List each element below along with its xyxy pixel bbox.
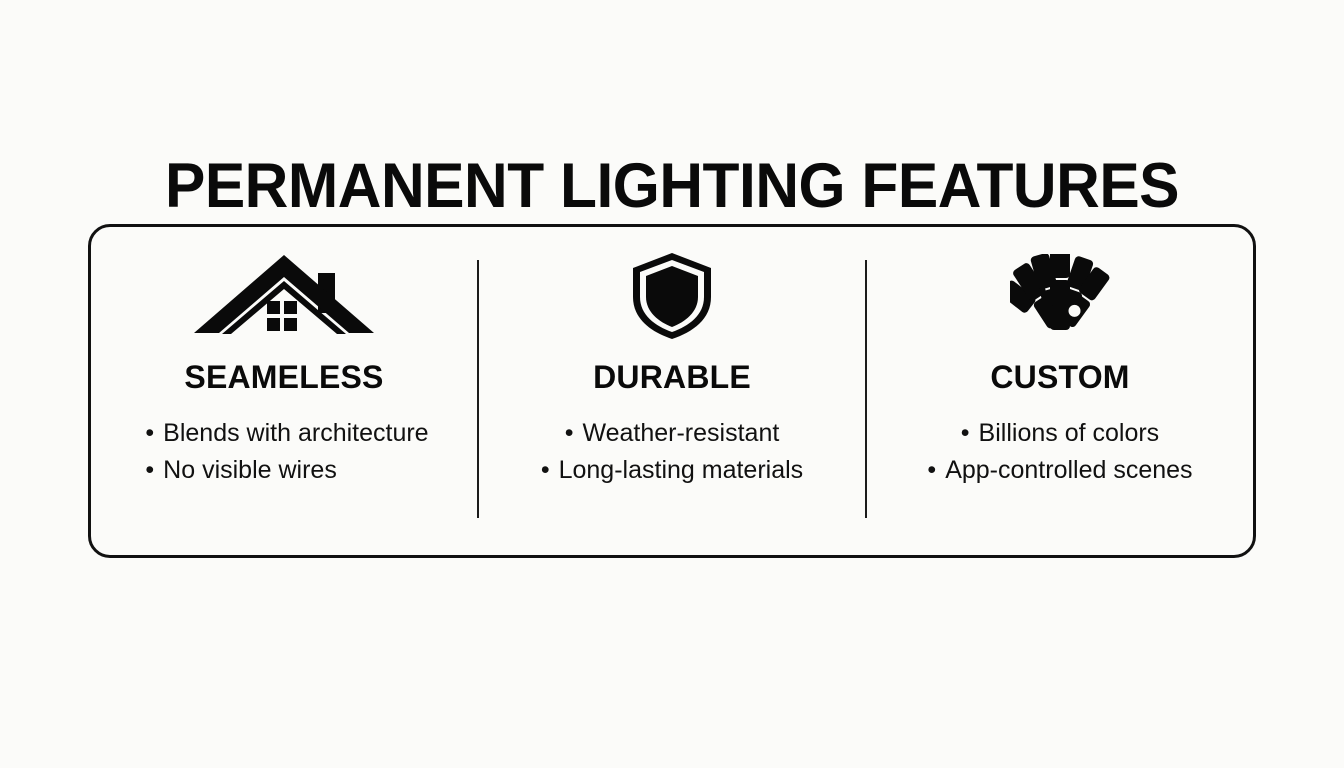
feature-bullet-list: •Blends with architecture •No visible wi… (145, 415, 428, 489)
feature-heading: SEAMELESS (184, 359, 383, 395)
color-swatch-fan-icon (1010, 253, 1110, 339)
shield-icon (633, 253, 711, 339)
feature-bullet-list: •Billions of colors •App-controlled scen… (927, 415, 1192, 489)
bullet-text: Weather-resistant (582, 419, 779, 447)
feature-column-seameless: SEAMELESS •Blends with architecture •No … (91, 227, 477, 555)
list-item: •No visible wires (145, 452, 428, 489)
features-card: SEAMELESS •Blends with architecture •No … (88, 224, 1256, 558)
page-title: PERMANENT LIGHTING FEATURES (27, 150, 1317, 222)
feature-bullet-list: •Weather-resistant •Long-lasting materia… (541, 415, 803, 489)
bullet-icon: • (145, 415, 154, 452)
house-roof-icon (194, 253, 374, 339)
bullet-icon: • (565, 415, 574, 452)
list-item: •Blends with architecture (145, 415, 428, 452)
bullet-text: Billions of colors (979, 419, 1160, 447)
feature-heading: CUSTOM (990, 359, 1129, 395)
bullet-icon: • (961, 415, 970, 452)
bullet-text: Long-lasting materials (559, 456, 804, 484)
list-item: •Weather-resistant (541, 415, 803, 452)
feature-column-durable: DURABLE •Weather-resistant •Long-lasting… (479, 227, 865, 555)
bullet-icon: • (927, 452, 936, 489)
bullet-icon: • (145, 452, 154, 489)
list-item: •App-controlled scenes (927, 452, 1192, 489)
bullet-text: Blends with architecture (163, 419, 428, 447)
list-item: •Billions of colors (927, 415, 1192, 452)
bullet-text: App-controlled scenes (945, 456, 1192, 484)
bullet-text: No visible wires (163, 456, 337, 484)
slide-canvas: PERMANENT LIGHTING FEATURES (0, 0, 1344, 768)
list-item: •Long-lasting materials (541, 452, 803, 489)
feature-column-custom: CUSTOM •Billions of colors •App-controll… (867, 227, 1253, 555)
feature-heading: DURABLE (593, 359, 751, 395)
feature-columns: SEAMELESS •Blends with architecture •No … (91, 227, 1253, 555)
bullet-icon: • (541, 452, 550, 489)
